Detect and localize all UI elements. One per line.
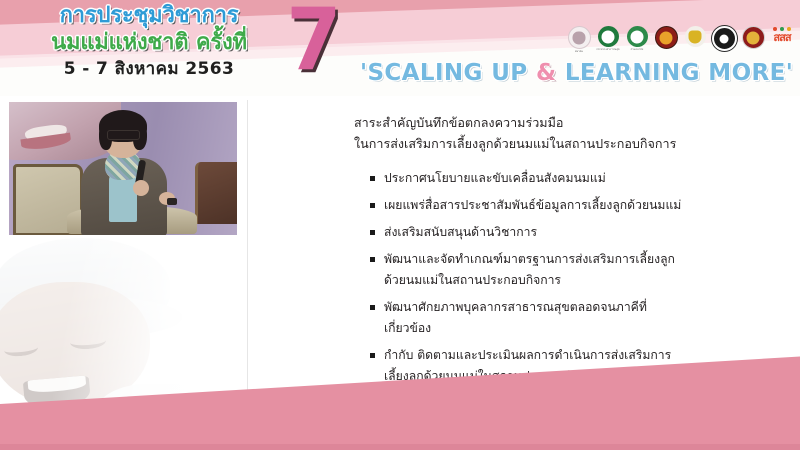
slide-body: สาระสำคัญบันทึกข้อตกลงความร่วมมือ ในการส… xyxy=(0,96,800,450)
list-item: ส่งเสริมสนับสนุนด้านวิชาการ xyxy=(370,222,684,243)
royal-garuda-logo xyxy=(682,26,708,56)
list-item: เผยแพร่สื่อสารประชาสัมพันธ์ข้อมูลการเลี้… xyxy=(370,195,684,216)
ministry-public-health-icon xyxy=(598,26,619,47)
logo-caption: สมาคม xyxy=(566,50,592,53)
royal-garuda-icon xyxy=(685,26,706,47)
slide-header-banner: การประชุมวิชาการ นมแม่แห่งชาติ ครั้งที่ … xyxy=(0,0,800,96)
sponsor-logos-row: สมาคม กระทรวงสาธารณสุข กรมอนามัย xyxy=(566,25,798,57)
list-item: ประกาศนโยบายและขับเคลื่อนสังคมนมแม่ xyxy=(370,168,684,189)
mou-bullet-list: ประกาศนโยบายและขับเคลื่อนสังคมนมแม่ เผยแ… xyxy=(354,168,776,387)
lead-paragraph: สาระสำคัญบันทึกข้อตกลงความร่วมมือ ในการส… xyxy=(354,112,776,154)
ministry-public-health-logo: กระทรวงสาธารณสุข xyxy=(595,26,621,56)
black-circle-emblem-logo xyxy=(711,26,737,56)
content-divider xyxy=(247,100,248,396)
conference-tagline: 'SCALING UP & LEARNING MORE' xyxy=(360,58,790,88)
thaihealth-dots-icon xyxy=(773,27,795,32)
logo-caption: กระทรวงสาธารณสุข xyxy=(595,48,621,51)
footer-bottom-strip xyxy=(0,444,800,450)
department-health-icon xyxy=(627,26,648,47)
tagline-part2: LEARNING MORE' xyxy=(556,60,793,86)
edition-number-badge: 7 xyxy=(286,0,341,86)
tagline-ampersand: & xyxy=(536,60,556,86)
department-health-logo: กรมอนามัย xyxy=(624,26,650,56)
tagline-part1: 'SCALING UP xyxy=(360,60,536,86)
conference-title-line1: การประชุมวิชาการ xyxy=(18,2,280,29)
speaker-photo xyxy=(9,102,237,235)
presentation-slide: การประชุมวิชาการ นมแม่แห่งชาติ ครั้งที่ … xyxy=(0,0,800,450)
buddha-emblem-icon xyxy=(568,26,591,49)
black-circle-emblem-icon xyxy=(712,26,737,51)
thaihealth-sss-logo: สสส xyxy=(769,26,795,56)
buddha-emblem-logo: สมาคม xyxy=(566,26,592,56)
list-item: พัฒนาศักยภาพบุคลากรสาธารณสุขตลอดจนภาคีที… xyxy=(370,297,684,339)
red-seal-logo xyxy=(740,26,766,56)
list-item: พัฒนาและจัดทำเกณฑ์มาตรฐานการส่งเสริมการเ… xyxy=(370,249,684,291)
conference-title-block: การประชุมวิชาการ นมแม่แห่งชาติ ครั้งที่ … xyxy=(18,2,280,79)
royal-crest-logo xyxy=(653,26,679,56)
conference-date: 5 - 7 สิงหาคม 2563 xyxy=(18,59,280,79)
lead-line-2: ในการส่งเสริมการเลี้ยงลูกด้วยนมแม่ในสถาน… xyxy=(354,133,776,154)
lead-line-1: สาระสำคัญบันทึกข้อตกลงความร่วมมือ xyxy=(354,112,776,133)
logo-caption: กรมอนามัย xyxy=(624,48,650,51)
royal-crest-icon xyxy=(655,26,678,49)
red-seal-icon xyxy=(742,26,765,49)
conference-title-line2: นมแม่แห่งชาติ ครั้งที่ xyxy=(18,29,280,57)
